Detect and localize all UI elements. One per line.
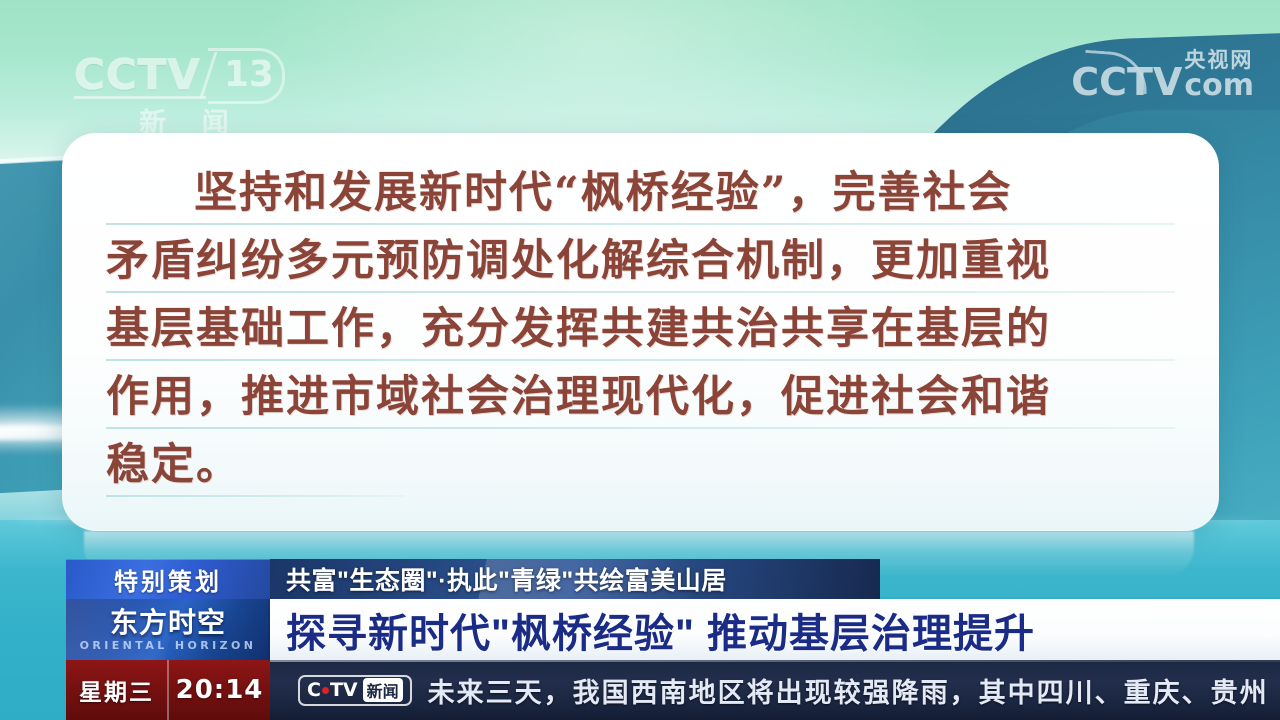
lower-third-graphics: 特别策划 东方时空 ORIENTAL HORIZON 星期三 20:14 共富"… (66, 559, 1280, 720)
website-watermark: CCTV 央视网 com (1071, 50, 1254, 100)
lower-third-right-column: 共富"生态圈"·执此"青绿"共绘富美山居 探寻新时代"枫桥经验" 推动基层治理提… (270, 559, 1280, 720)
weekday-label: 星期三 (66, 660, 167, 720)
watermark-tld-text: com (1184, 68, 1254, 103)
special-feature-badge: 特别策划 (66, 559, 270, 599)
ticker-badge-dot-icon (322, 687, 329, 694)
ticker-badge-cn: 新闻 (363, 678, 403, 702)
channel-number-text: 13 (224, 54, 274, 95)
lower-third-left-column: 特别策划 东方时空 ORIENTAL HORIZON 星期三 20:14 (66, 559, 270, 720)
quote-line-1: 坚持和发展新时代“枫桥经验”，完善社会 (106, 159, 1175, 227)
subheadline-text: 共富"生态圈"·执此"青绿"共绘富美山居 (286, 561, 727, 597)
channel-logo-bug: CCTV 13 新 闻 (74, 50, 274, 140)
quote-line-2: 矛盾纠纷多元预防调处化解综合机制，更加重视 (106, 227, 1175, 295)
clock-label: 20:14 (167, 660, 270, 720)
quote-line-4: 作用，推进市域社会治理现代化，促进社会和谐 (106, 363, 1175, 431)
ticker-cctv-news-badge: CTV 新闻 (298, 675, 412, 706)
headline-bar: 探寻新时代"枫桥经验" 推动基层治理提升 (270, 599, 1280, 660)
channel-brand-text: CCTV (74, 50, 201, 99)
program-logo-block: 东方时空 ORIENTAL HORIZON (66, 599, 270, 660)
headline-text: 探寻新时代"枫桥经验" 推动基层治理提升 (286, 601, 1035, 659)
broadcast-frame: CCTV 13 新 闻 CCTV 央视网 com 坚持和发展新时代“枫桥经验”，… (0, 0, 1280, 720)
special-feature-label: 特别策划 (114, 562, 222, 597)
watermark-right-group: 央视网 com (1184, 50, 1254, 100)
ticker-badge-brand: CTV (307, 679, 358, 701)
program-name-en: ORIENTAL HORIZON (80, 639, 257, 652)
ticker-text: 未来三天，我国西南地区将出现较强降雨，其中四川、重庆、贵州 (428, 671, 1269, 710)
channel-logo-row: CCTV 13 (74, 50, 274, 99)
news-ticker-bar: CTV 新闻 未来三天，我国西南地区将出现较强降雨，其中四川、重庆、贵州 (270, 660, 1280, 720)
watermark-arc-icon (1083, 50, 1150, 94)
quote-line-5: 稳定。 (106, 431, 1175, 499)
program-name-cn: 东方时空 (110, 608, 226, 638)
subheadline-bar: 共富"生态圈"·执此"青绿"共绘富美山居 (270, 559, 880, 599)
quote-line-3: 基层基础工作，充分发挥共建共治共享在基层的 (106, 295, 1175, 363)
datetime-block: 星期三 20:14 (66, 660, 270, 720)
quote-card: 坚持和发展新时代“枫桥经验”，完善社会 矛盾纠纷多元预防调处化解综合机制，更加重… (62, 133, 1219, 531)
